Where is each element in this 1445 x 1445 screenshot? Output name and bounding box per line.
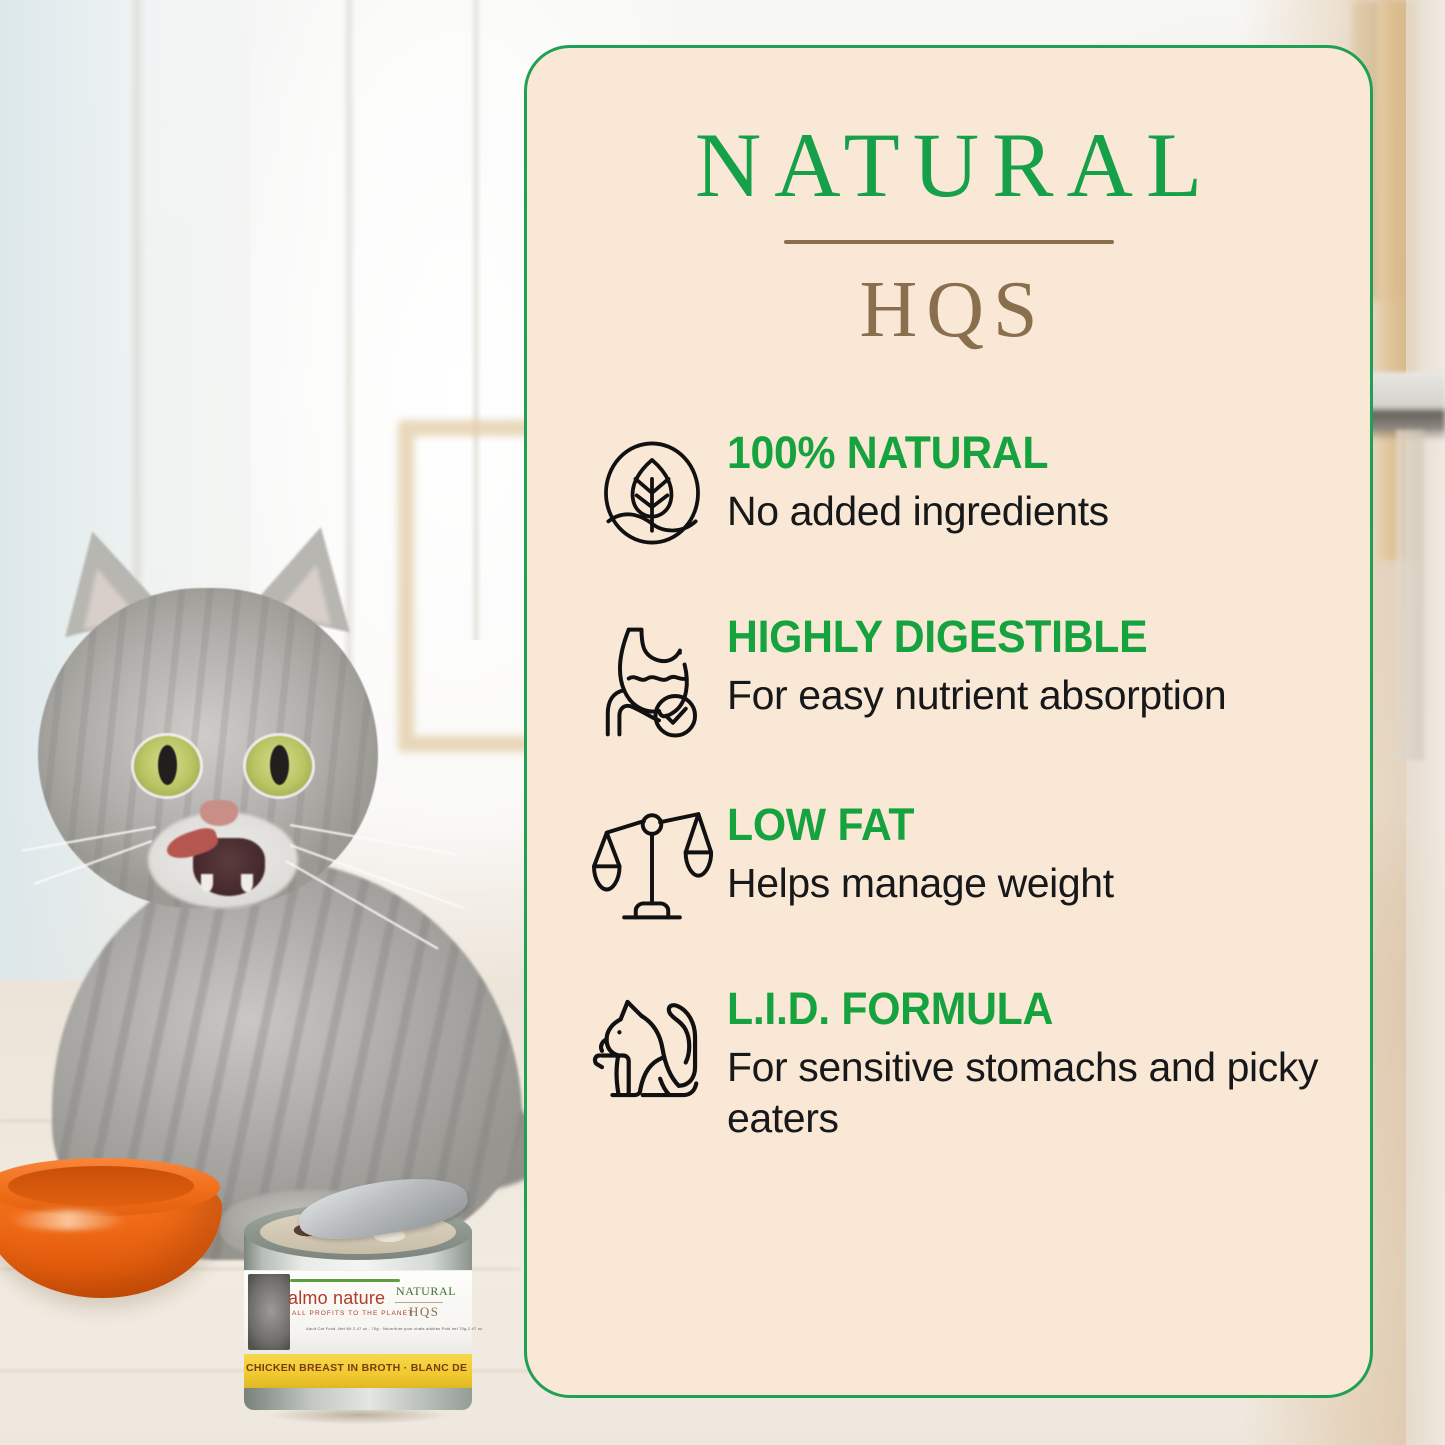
feature-title: LOW FAT — [727, 802, 1309, 848]
cat-whisker — [290, 824, 458, 855]
cat-pupil — [158, 745, 177, 785]
feature-text: LOW FAT Helps manage weight — [727, 800, 1340, 909]
product-can: almo nature ALL PROFITS TO THE PLANET NA… — [240, 1196, 478, 1426]
cat-eye-left — [134, 736, 200, 796]
leaf-in-circle-icon — [577, 428, 727, 552]
can-flavor-text: CHICKEN BREAST IN BROTH · BLANC DE POULE… — [246, 1362, 470, 1374]
label-green-rule — [290, 1279, 400, 1282]
can-brand-name: almo nature — [288, 1288, 385, 1309]
cat-tooth — [201, 874, 213, 892]
feature-title: L.I.D. FORMULA — [727, 986, 1309, 1032]
feature-description: For sensitive stomachs and picky eaters — [727, 1042, 1340, 1144]
feature-title: HIGHLY DIGESTIBLE — [727, 614, 1309, 660]
label-cat-image — [248, 1274, 290, 1350]
can-brand-tagline: ALL PROFITS TO THE PLANET — [292, 1310, 413, 1317]
cat-head — [38, 588, 378, 908]
page-title: NATURAL — [527, 122, 1370, 209]
feature-description: No added ingredients — [727, 486, 1340, 537]
page-subtitle: HQS — [527, 270, 1370, 350]
cat-pupil — [270, 745, 289, 785]
feature-description: For easy nutrient absorption — [727, 670, 1340, 721]
card-header: NATURAL HQS — [527, 48, 1370, 350]
can-line-sub: HQS — [409, 1304, 440, 1320]
product-feature-image: almo nature ALL PROFITS TO THE PLANET NA… — [0, 0, 1445, 1445]
feature-item: LOW FAT Helps manage weight — [577, 800, 1340, 930]
cat-tooth — [241, 874, 253, 892]
can-label-divider — [395, 1302, 443, 1303]
feature-text: L.I.D. FORMULA For sensitive stomachs an… — [727, 984, 1340, 1144]
feature-title: 100% NATURAL — [727, 430, 1309, 476]
feature-list: 100% NATURAL No added ingredients — [527, 428, 1370, 1144]
feature-description: Helps manage weight — [727, 858, 1340, 909]
feature-item: L.I.D. FORMULA For sensitive stomachs an… — [577, 984, 1340, 1144]
can-base — [244, 1388, 472, 1410]
balance-scale-icon — [577, 800, 727, 922]
can-label: almo nature ALL PROFITS TO THE PLANET NA… — [244, 1270, 472, 1354]
feature-text: 100% NATURAL No added ingredients — [727, 428, 1340, 537]
orange-food-bowl — [0, 1152, 232, 1312]
can-line-name: NATURAL — [396, 1284, 456, 1299]
sitting-cat-icon — [577, 984, 727, 1114]
cat-eye-right — [246, 736, 312, 796]
feature-item: 100% NATURAL No added ingredients — [577, 428, 1340, 558]
feature-text: HIGHLY DIGESTIBLE For easy nutrient abso… — [727, 612, 1340, 721]
furniture-leg-blurred — [1396, 430, 1424, 760]
bowl-inner — [8, 1166, 194, 1206]
cat-whisker — [33, 840, 152, 885]
can-fineprint: Adult Cat Food. Net Wt 2.47 oz - 70g · N… — [306, 1326, 482, 1331]
stomach-check-icon — [577, 612, 727, 746]
feature-item: HIGHLY DIGESTIBLE For easy nutrient abso… — [577, 612, 1340, 746]
title-divider — [784, 240, 1114, 244]
cat-nose — [200, 800, 238, 826]
benefits-card: NATURAL HQS — [524, 45, 1373, 1398]
bowl-highlight — [8, 1210, 128, 1230]
